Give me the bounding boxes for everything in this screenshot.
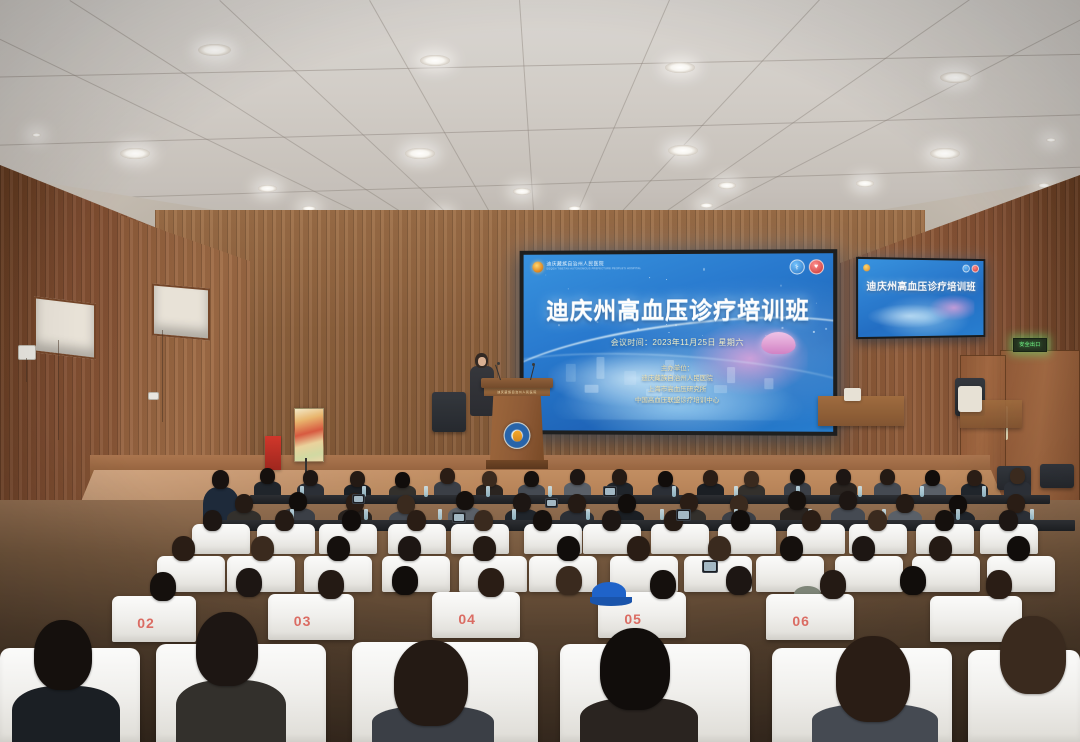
slide-organizer-lines: 主办单位：迪庆藏族自治州人民医院上海市高血压研究所中国高血压联盟诊疗培训中心 bbox=[524, 364, 834, 408]
slide-building-group bbox=[524, 253, 834, 255]
slide-organizer-line: 中国高血压联盟诊疗培训中心 bbox=[524, 395, 834, 407]
wall-intercom-device[interactable] bbox=[18, 345, 36, 360]
audience-head bbox=[260, 468, 275, 484]
speaker-face bbox=[478, 357, 486, 366]
smartphone[interactable] bbox=[452, 512, 466, 523]
audience-head bbox=[650, 570, 676, 599]
audience-head bbox=[1007, 536, 1030, 561]
audience-head bbox=[392, 566, 418, 595]
audience-head bbox=[788, 491, 806, 510]
slide-title: 迪庆州高血压诊疗培训班 bbox=[524, 291, 834, 326]
audience-head bbox=[478, 568, 504, 597]
ceiling-downlight bbox=[856, 180, 874, 187]
lectern: 迪庆藏族自治州人民医院 bbox=[486, 378, 548, 470]
audience-head bbox=[203, 510, 222, 531]
water-bottle[interactable] bbox=[586, 509, 590, 520]
heart-health-badge-icon bbox=[971, 265, 978, 273]
audience-head bbox=[602, 510, 621, 531]
audience-head bbox=[482, 471, 497, 487]
audience-head bbox=[731, 510, 750, 531]
audience-head bbox=[658, 471, 673, 487]
audience-head bbox=[820, 570, 846, 599]
water-bottle[interactable] bbox=[512, 509, 516, 520]
ceiling-downlight bbox=[700, 203, 713, 208]
audience-desk bbox=[250, 495, 1050, 504]
exit-sign-label: 安全出口 bbox=[1019, 343, 1041, 348]
left-wall-window bbox=[152, 283, 210, 340]
side-slide-city-illustration bbox=[869, 293, 974, 330]
water-bottle[interactable] bbox=[548, 486, 552, 497]
audience-head bbox=[440, 468, 455, 484]
seat-number: 06 bbox=[792, 613, 810, 629]
audience-head bbox=[703, 470, 718, 486]
blind-pull-cord bbox=[58, 340, 59, 440]
smartphone[interactable] bbox=[603, 486, 617, 497]
audience-head bbox=[880, 469, 895, 485]
side-slide: 迪庆州高血压诊疗培训班 bbox=[858, 259, 983, 337]
audience-head bbox=[935, 510, 954, 531]
medical-emblem-badge-icon: ⚕ bbox=[789, 260, 804, 275]
slide-organizer-line: 迪庆藏族自治州人民医院 bbox=[524, 374, 834, 385]
audience-head bbox=[612, 469, 627, 485]
water-bottle[interactable] bbox=[438, 509, 442, 520]
ceiling-downlight bbox=[32, 133, 41, 137]
lectern-band-label: 迪庆藏族自治州人民医院 bbox=[497, 390, 537, 394]
audience-head bbox=[398, 536, 421, 561]
audience-head bbox=[251, 536, 274, 561]
main-led-screen[interactable]: 迪庆藏族自治州人民医院 DEQEN TIBETAN AUTONOMOUS PRE… bbox=[520, 249, 838, 436]
audience-head bbox=[836, 636, 910, 722]
ceiling-downlight bbox=[718, 182, 736, 189]
audience-head bbox=[394, 640, 468, 726]
slide-organizer-line: 主办单位： bbox=[524, 364, 834, 375]
audience-head bbox=[318, 570, 344, 599]
water-bottle[interactable] bbox=[424, 486, 428, 497]
audience-head bbox=[327, 536, 350, 561]
slide-sparkle bbox=[666, 279, 667, 280]
audience-head bbox=[790, 469, 805, 485]
audience-head bbox=[726, 566, 752, 595]
audience-head bbox=[172, 536, 195, 561]
audience-head bbox=[570, 469, 585, 485]
audience-head bbox=[929, 536, 952, 561]
audience-head bbox=[780, 536, 803, 561]
audience-head bbox=[839, 491, 857, 510]
audience-head bbox=[474, 510, 493, 531]
audience-head bbox=[303, 470, 318, 486]
audience-head bbox=[456, 491, 474, 510]
smartphone[interactable] bbox=[676, 509, 691, 521]
audience-head bbox=[395, 472, 410, 488]
smartphone-screen bbox=[605, 488, 615, 495]
water-bottle[interactable] bbox=[672, 486, 676, 497]
stage-table bbox=[818, 396, 904, 426]
conference-hall-photo: 安全出口 迪庆藏族自治州人民医院 DEQEN TIBETAN AUTONOMOU… bbox=[0, 0, 1080, 742]
water-bottle[interactable] bbox=[364, 509, 368, 520]
lectern-name-band: 迪庆藏族自治州人民医院 bbox=[484, 388, 550, 396]
audience-head bbox=[568, 494, 586, 513]
seat-number: 04 bbox=[458, 611, 476, 627]
hospital-logo-en: DEQEN TIBETAN AUTONOMOUS PREFECTURE PEOP… bbox=[546, 268, 641, 271]
audience-head bbox=[900, 566, 926, 595]
slide-sparkle-group bbox=[524, 253, 834, 255]
seat-number: 05 bbox=[624, 611, 642, 627]
seat-number: 03 bbox=[294, 613, 312, 629]
audience-head bbox=[556, 566, 582, 595]
slide-hospital-logo: 迪庆藏族自治州人民医院 DEQEN TIBETAN AUTONOMOUS PRE… bbox=[533, 261, 641, 272]
slide-sparkle bbox=[545, 274, 547, 276]
water-bottle[interactable] bbox=[1030, 509, 1034, 520]
ceiling-downlight bbox=[258, 185, 277, 192]
audience-head bbox=[999, 510, 1018, 531]
slide-sparkle bbox=[649, 277, 650, 278]
audience-head bbox=[235, 494, 253, 513]
hospital-logo-mark bbox=[533, 262, 544, 273]
audience-head bbox=[524, 471, 539, 487]
seat-number: 02 bbox=[137, 615, 155, 631]
chair-cover[interactable] bbox=[192, 524, 250, 554]
slide-sparkle bbox=[703, 268, 705, 270]
audience-head bbox=[1010, 468, 1025, 484]
lectern-top bbox=[481, 378, 553, 388]
audience-head bbox=[618, 494, 636, 513]
hospital-crest-icon bbox=[504, 422, 531, 449]
main-slide: 迪庆藏族自治州人民医院 DEQEN TIBETAN AUTONOMOUS PRE… bbox=[524, 253, 834, 432]
audience-head bbox=[342, 510, 361, 531]
ceiling-downlight bbox=[930, 148, 960, 159]
water-bottle[interactable] bbox=[920, 486, 924, 497]
smartphone[interactable] bbox=[702, 560, 718, 573]
side-led-screen[interactable]: 迪庆州高血压诊疗培训班 bbox=[856, 257, 985, 339]
ceiling-downlight bbox=[120, 148, 150, 159]
event-poster-board[interactable] bbox=[294, 408, 324, 462]
left-wall-window bbox=[34, 296, 96, 360]
medical-emblem-badge-icon bbox=[962, 264, 969, 272]
stage-table-item bbox=[844, 388, 861, 401]
side-slide-badge-group bbox=[962, 264, 978, 272]
audience-head bbox=[896, 494, 914, 513]
audience-head bbox=[802, 510, 821, 531]
red-floor-banner bbox=[265, 436, 281, 470]
audience-head bbox=[236, 568, 262, 597]
side-slide-title: 迪庆州高血压诊疗培训班 bbox=[858, 278, 983, 294]
smartphone[interactable] bbox=[545, 498, 558, 508]
water-bottle[interactable] bbox=[858, 486, 862, 497]
audience-head bbox=[627, 536, 650, 561]
ceiling-downlight bbox=[405, 148, 435, 159]
lectern-base bbox=[486, 460, 548, 469]
audience-head bbox=[967, 470, 982, 486]
slide-badge-group: ⚕ ♥ bbox=[789, 259, 823, 274]
stage-chair[interactable] bbox=[1040, 464, 1074, 488]
audience-shoulders bbox=[12, 686, 120, 742]
ceiling-downlight bbox=[665, 62, 695, 73]
audience-head bbox=[600, 628, 670, 710]
audience-head bbox=[986, 570, 1012, 599]
audience-head bbox=[34, 620, 92, 690]
audience-head bbox=[196, 612, 258, 686]
audience-head bbox=[407, 510, 426, 531]
slide-sparkle bbox=[567, 289, 568, 290]
wall-cord bbox=[26, 358, 27, 382]
chair-cover[interactable] bbox=[432, 592, 520, 638]
smartphone-screen bbox=[454, 514, 464, 521]
blind-pull-cord bbox=[162, 330, 163, 422]
cap-brim bbox=[590, 597, 632, 606]
audience-head bbox=[557, 536, 580, 561]
ceiling-downlight bbox=[1046, 138, 1056, 142]
heart-health-badge-icon: ♥ bbox=[809, 259, 824, 274]
audience-head bbox=[212, 470, 229, 489]
water-bottle[interactable] bbox=[486, 486, 490, 497]
audience-head bbox=[1000, 616, 1066, 694]
ceiling-downlight bbox=[940, 72, 971, 83]
audience-shoulders bbox=[176, 680, 286, 742]
ceiling-downlight bbox=[420, 55, 450, 66]
slide-sparkle bbox=[781, 285, 782, 286]
stage-chair[interactable] bbox=[432, 392, 466, 432]
audience-head bbox=[925, 470, 940, 486]
smartphone-screen bbox=[547, 500, 556, 506]
slide-subtitle: 会议时间：2023年11月25日 星期六 bbox=[524, 337, 834, 348]
audience-head bbox=[708, 536, 731, 561]
audience-head bbox=[852, 536, 875, 561]
wall-switch-plate[interactable] bbox=[148, 392, 159, 400]
smartphone-screen bbox=[704, 562, 716, 571]
smartphone-screen bbox=[354, 496, 363, 502]
audience-head bbox=[350, 471, 365, 487]
ceiling-downlight bbox=[513, 188, 531, 195]
audience-head bbox=[275, 510, 294, 531]
audience-head bbox=[533, 510, 552, 531]
microphone-head-icon bbox=[497, 362, 500, 365]
audience-head bbox=[868, 510, 887, 531]
microphone-head-icon bbox=[532, 363, 535, 366]
audience-head bbox=[150, 572, 176, 601]
emergency-exit-sign: 安全出口 bbox=[1013, 338, 1047, 352]
water-bottle[interactable] bbox=[982, 486, 986, 497]
stage-flipchart bbox=[958, 386, 982, 412]
ceiling-downlight bbox=[198, 44, 231, 56]
chair-cover[interactable] bbox=[766, 594, 854, 640]
smartphone[interactable] bbox=[352, 494, 365, 504]
water-bottle[interactable] bbox=[956, 509, 960, 520]
ceiling-downlight bbox=[668, 145, 698, 156]
side-slide-logo-mark bbox=[863, 264, 870, 271]
audience-head bbox=[473, 536, 496, 561]
smartphone-screen bbox=[678, 511, 689, 519]
audience-head bbox=[744, 471, 759, 487]
